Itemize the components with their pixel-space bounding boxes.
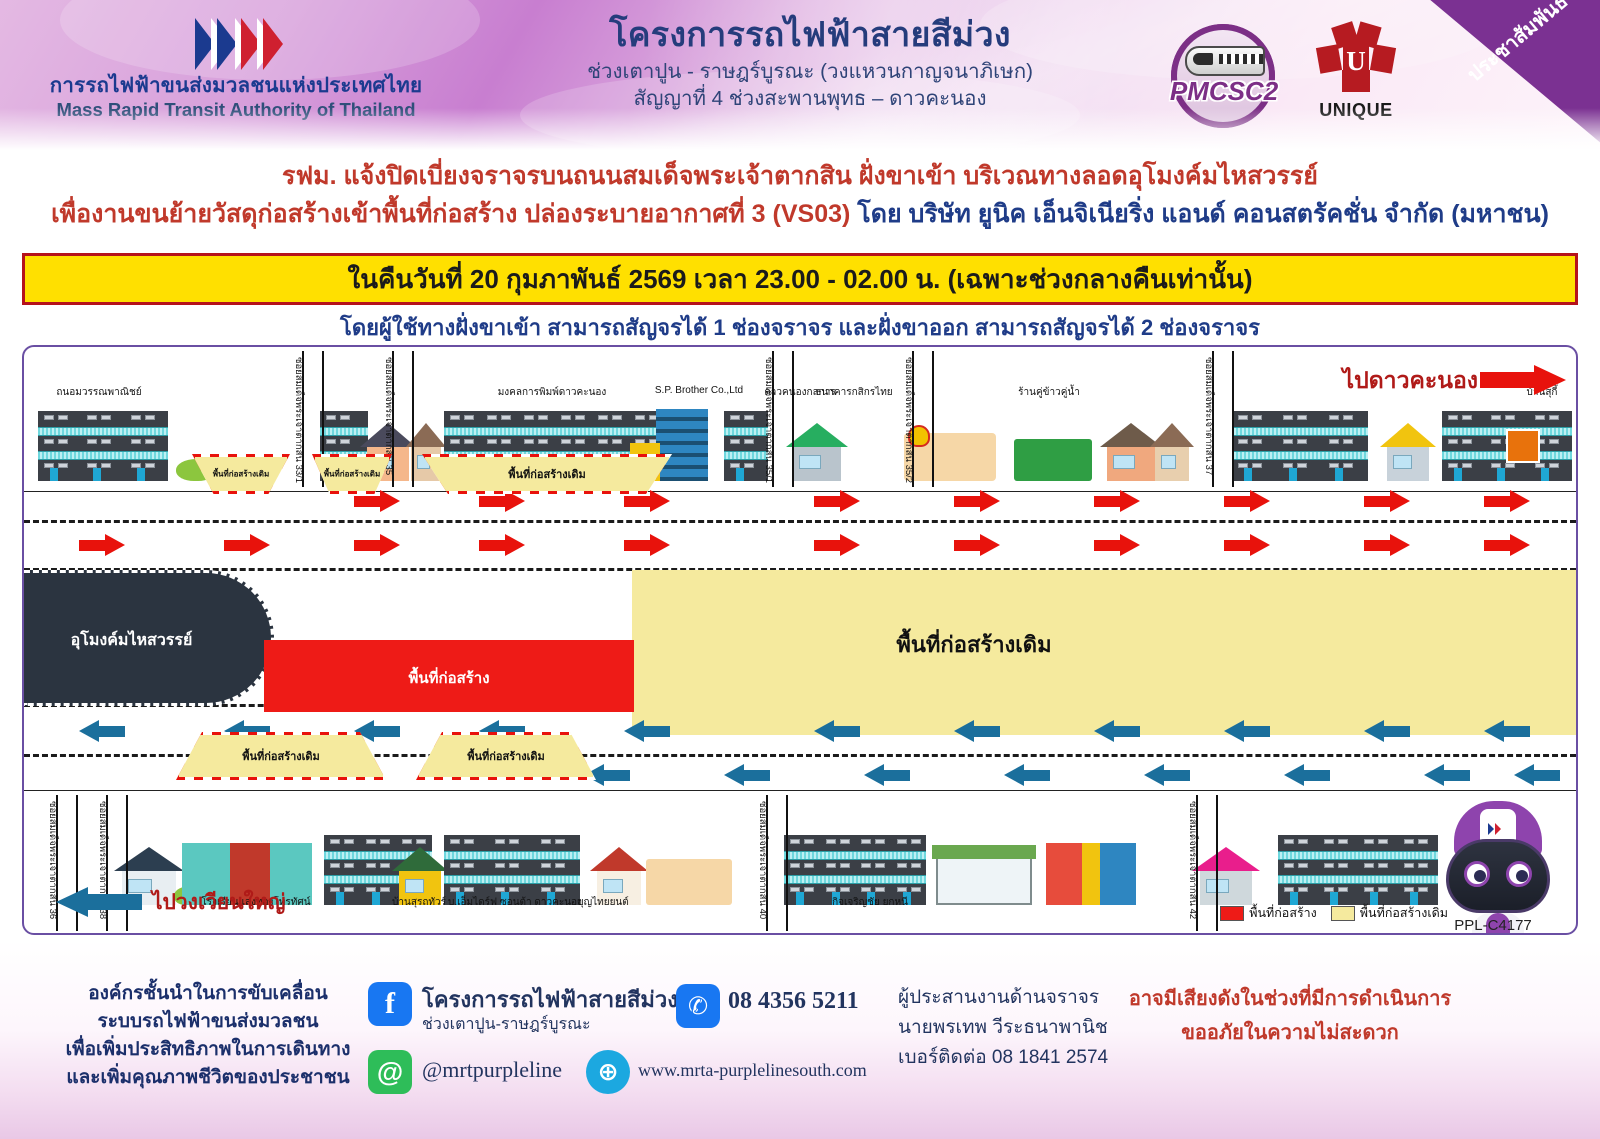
window (145, 439, 155, 444)
window (1161, 455, 1176, 469)
window (799, 455, 820, 469)
window (1404, 839, 1414, 844)
window (1298, 887, 1308, 892)
balcony (444, 875, 580, 884)
window (804, 839, 814, 844)
window (598, 415, 608, 420)
window (1297, 415, 1307, 420)
window (1505, 463, 1515, 468)
building-shophouse (1232, 411, 1368, 481)
window (524, 415, 534, 420)
door (93, 468, 101, 481)
legend-swatch (1220, 906, 1244, 921)
line-icon[interactable]: @ (368, 1050, 412, 1094)
house-wall (793, 447, 840, 481)
window (861, 839, 871, 844)
window (501, 439, 511, 444)
window (1448, 439, 1458, 444)
window (1329, 439, 1339, 444)
window (131, 415, 141, 420)
window (790, 839, 800, 844)
window (1283, 439, 1293, 444)
window (1505, 415, 1515, 420)
baan-suki-sign-icon (1506, 429, 1540, 463)
window (330, 863, 340, 868)
place-label: S.P. Brother Co.,Ltd (634, 385, 764, 396)
lane-divider (24, 520, 1576, 523)
window (101, 439, 111, 444)
window (730, 439, 740, 444)
document-code: PPL-C4177 (1454, 917, 1532, 934)
window (1418, 887, 1428, 892)
active-construction-zone: พื้นที่ก่อสร้าง (264, 640, 634, 712)
door (1454, 468, 1462, 481)
window (897, 863, 907, 868)
window (1462, 439, 1472, 444)
window (1393, 455, 1412, 469)
soi-divider: ซอยสมเด็จพระเจ้าตากสิน 37 (1212, 351, 1234, 487)
window (464, 887, 474, 892)
window (87, 415, 97, 420)
window (1252, 463, 1262, 468)
window (612, 415, 622, 420)
door (1289, 468, 1297, 481)
house-wall (1155, 447, 1188, 481)
slogan-line: องค์กรชั้นนำในการขับเคลื่อน (58, 980, 358, 1008)
window (635, 415, 645, 420)
balcony (1278, 851, 1438, 860)
building-office-tower (656, 409, 708, 481)
inbound-traffic-arrow-icon (354, 534, 400, 556)
window (1113, 455, 1134, 469)
mascot-eye-left (1464, 861, 1490, 887)
direction-label-daokanong: ไปดาวคะนอง (1343, 363, 1478, 399)
mrta-chevron-icon (191, 18, 281, 70)
traffic-diagram: ซอยสมเด็จพระเจ้าตากสิน 33/1ซอยสมเด็จพระเ… (22, 345, 1578, 935)
coordinator-name: นายพรเทพ วีระธนาพานิช (898, 1012, 1108, 1042)
window (1418, 863, 1428, 868)
closure-area-label: พื้นที่ก่อสร้างเดิม (425, 465, 669, 483)
soi-divider: ซอยสมเด็จพระเจ้าตากสิน 42 (1196, 795, 1218, 931)
window (538, 415, 548, 420)
balcony (784, 851, 926, 860)
window (495, 839, 505, 844)
closure-area-label: พื้นที่ก่อสร้างเดิม (419, 747, 593, 765)
window (1535, 415, 1545, 420)
door (1244, 468, 1252, 481)
inbound-traffic-arrow-icon (814, 490, 860, 512)
door (796, 892, 804, 905)
window (1378, 887, 1388, 892)
inbound-traffic-arrow-icon (954, 534, 1000, 556)
window (509, 887, 519, 892)
roof (392, 847, 448, 871)
window (730, 415, 740, 420)
door (736, 468, 744, 481)
soi-divider: ซอยสมเด็จพระเจ้าตากสิน 35/2 (912, 351, 934, 487)
website-url[interactable]: www.mrta-purplelinesouth.com (638, 1060, 867, 1081)
window (875, 863, 885, 868)
inbound-traffic-arrow-icon (814, 534, 860, 556)
window (612, 439, 622, 444)
soi-label: ซอยสมเด็จพระเจ้าตากสิน 35/1 (761, 357, 776, 477)
window (541, 863, 551, 868)
window (1418, 839, 1428, 844)
window (1338, 863, 1348, 868)
place-label: ร้านคู่ข้าวคู่น้ำ (999, 385, 1099, 400)
window (1549, 439, 1559, 444)
globe-icon[interactable]: ⊕ (586, 1050, 630, 1094)
bottom-closure-areas: พื้นที่ก่อสร้างเดิมพื้นที่ก่อสร้างเดิม (24, 732, 1576, 792)
window (101, 415, 111, 420)
window (340, 439, 350, 444)
window (1404, 863, 1414, 868)
window (790, 863, 800, 868)
window (1343, 463, 1353, 468)
page-footer: องค์กรชั้นนำในการขับเคลื่อนระบบรถไฟฟ้าขน… (0, 940, 1600, 1139)
notice-line-2-red: เพื่องานขนย้ายวัสดุก่อสร้างเข้าพื้นที่ก่… (51, 200, 857, 228)
closure-area: พื้นที่ก่อสร้างเดิม (422, 454, 672, 494)
legend-swatch (1331, 906, 1355, 921)
window (875, 839, 885, 844)
restaurant-icon (1014, 439, 1092, 481)
window (861, 863, 871, 868)
window (1343, 439, 1353, 444)
inbound-traffic-arrow-icon (954, 490, 1000, 512)
bottom-building-band: ซอยสมเด็จพระเจ้าตากสิน 36ซอยสมเด็จพระเจ้… (24, 790, 1576, 935)
window (509, 863, 519, 868)
balcony (444, 851, 580, 860)
inbound-traffic-arrow-icon (224, 534, 270, 556)
closure-area-label: พื้นที่ก่อสร้างเดิม (179, 747, 383, 765)
existing-construction-zone-label: พื้นที่ก่อสร้างเดิม (724, 627, 1224, 662)
window (840, 887, 850, 892)
window (464, 415, 474, 420)
contact-phone-number[interactable]: 08 4356 5211 (728, 988, 859, 1015)
place-label: กิจเจริญชัย ยกหนี (810, 895, 930, 910)
soi-label: ซอยสมเด็จพระเจ้าตากสิน 35/2 (901, 357, 916, 477)
window (1238, 439, 1248, 444)
legend-label: พื้นที่ก่อสร้าง (1249, 903, 1317, 923)
coordinator-phone: เบอร์ติดต่อ 08 1841 2574 (898, 1042, 1108, 1072)
window (450, 439, 460, 444)
window (487, 439, 497, 444)
notice-line-2: เพื่องานขนย้ายวัสดุก่อสร้างเข้าพื้นที่ก่… (0, 198, 1600, 232)
window (145, 463, 155, 468)
unique-petal-mark-icon: U (1310, 24, 1402, 96)
slogan-line: เพื่อเพิ่มประสิทธิภาพในการเดินทาง (58, 1036, 358, 1064)
window (1283, 415, 1293, 420)
door (1497, 468, 1505, 481)
soi-label: ซอยสมเด็จพระเจ้าตากสิน 33/1 (291, 357, 306, 477)
inbound-traffic-arrow-icon (1224, 534, 1270, 556)
window (1284, 863, 1294, 868)
notice-line-2-blue: โดย บริษัท ยูนิค เอ็นจิเนียริ่ง แอนด์ คอ… (857, 200, 1549, 228)
window (58, 439, 68, 444)
window (555, 839, 565, 844)
place-label: ธนาคารกสิกรไทย (794, 385, 914, 400)
door (1541, 468, 1549, 481)
window (826, 863, 836, 868)
window (840, 863, 850, 868)
window (344, 839, 354, 844)
window (1324, 839, 1334, 844)
notice-text-block: รฟม. แจ้งปิดเบี่ยงจราจรบนถนนสมเด็จพระเจ้… (0, 160, 1600, 232)
window (1448, 415, 1458, 420)
closure-area-label: พื้นที่ก่อสร้างเดิม (315, 468, 389, 481)
door (137, 468, 145, 481)
nt-building-icon (1046, 843, 1136, 905)
window (1491, 439, 1501, 444)
facebook-icon[interactable]: f (368, 982, 412, 1026)
soi-label: ซอยสมเด็จพระเจ้าตากสิน 37 (1201, 357, 1216, 477)
direction-arrow-right-icon (1480, 365, 1566, 395)
window (326, 415, 336, 420)
roof (1380, 423, 1436, 447)
apology-line-2: ขออภัยในความไม่สะดวก (1110, 1016, 1470, 1048)
balcony (444, 427, 666, 436)
inbound-traffic-arrow-icon (1484, 490, 1530, 512)
bangchak-station-icon (646, 859, 732, 905)
balcony (1278, 875, 1438, 884)
post-office-roof (932, 845, 1036, 859)
window (1549, 415, 1559, 420)
agency-name-en: Mass Rapid Transit Authority of Thailand (36, 99, 436, 121)
window (1252, 415, 1262, 420)
balcony (38, 451, 168, 460)
door (1335, 468, 1343, 481)
window (897, 839, 907, 844)
post-office-icon (936, 855, 1032, 905)
window (911, 839, 921, 844)
facebook-page-sub: ช่วงเตาปูน-ราษฎร์บูรณะ (422, 1012, 591, 1037)
place-label: บ.เอ็มไดร์ฟ ซอนต้า ดาวคะนอง (448, 895, 558, 910)
train-icon (1185, 46, 1265, 76)
unique-logo: U UNIQUE (1310, 24, 1402, 130)
window (744, 439, 754, 444)
inbound-traffic-arrow-icon (1224, 490, 1270, 512)
window (561, 439, 571, 444)
window (598, 439, 608, 444)
agency-name-th: การรถไฟฟ้าขนส่งมวลชนแห่งประเทศไทย (36, 74, 436, 98)
window (538, 439, 548, 444)
balcony (1232, 451, 1368, 460)
direction-label-wongwianyai: ไปวงเวียนใหญ่ (152, 886, 286, 919)
pmcsc2-logo: PMCSC2 (1163, 20, 1285, 128)
mascot-eye-right (1506, 861, 1532, 887)
window (1364, 839, 1374, 844)
window (330, 839, 340, 844)
window (911, 863, 921, 868)
door (50, 468, 58, 481)
window (1378, 839, 1388, 844)
place-label: มงคลการพิมพ์ดาวคะนอง (462, 385, 642, 400)
mascot-figure (1428, 795, 1568, 935)
window (524, 439, 534, 444)
slogan-line: ระบบรถไฟฟ้าขนส่งมวลชน (58, 1008, 358, 1036)
window (826, 839, 836, 844)
project-title-block: โครงการรถไฟฟ้าสายสีม่วง ช่วงเตาปูน - ราษ… (470, 16, 1150, 112)
window (555, 863, 565, 868)
window (603, 879, 623, 893)
phone-icon[interactable]: ✆ (676, 984, 720, 1028)
window (340, 415, 350, 420)
window (501, 415, 511, 420)
datetime-banner-text: ในคืนวันที่ 20 กุมภาพันธ์ 2569 เวลา 23.0… (348, 259, 1253, 300)
apology-line-1: อาจมีเสียงดังในช่วงที่มีการดำเนินการ (1110, 982, 1470, 1014)
window (911, 887, 921, 892)
window (464, 863, 474, 868)
door (336, 892, 344, 905)
window (87, 439, 97, 444)
window (58, 415, 68, 420)
window (326, 439, 336, 444)
organisation-slogan: องค์กรชั้นนำในการขับเคลื่อนระบบรถไฟฟ้าขน… (58, 980, 358, 1092)
window (1238, 415, 1248, 420)
active-construction-zone-label: พื้นที่ก่อสร้าง (264, 666, 634, 690)
window (575, 439, 585, 444)
inbound-traffic-arrow-icon (1364, 534, 1410, 556)
mrta-logo-block: การรถไฟฟ้าขนส่งมวลชนแห่งประเทศไทย Mass R… (36, 18, 436, 121)
window (1462, 415, 1472, 420)
inbound-traffic-arrow-icon (1364, 490, 1410, 512)
window (450, 863, 460, 868)
window (416, 839, 426, 844)
window (464, 839, 474, 844)
datetime-banner: ในคืนวันที่ 20 กุมภาพันธ์ 2569 เวลา 23.0… (22, 253, 1578, 305)
underpass-tunnel: อุโมงค์มไหสวรรย์ (24, 570, 274, 706)
line-account-name[interactable]: @mrtpurpleline (422, 1057, 562, 1083)
closure-area-label: พื้นที่ก่อสร้างเดิม (195, 468, 287, 481)
mascot-head (1446, 839, 1550, 913)
window (131, 439, 141, 444)
window (44, 439, 54, 444)
window (1549, 463, 1559, 468)
window (1298, 863, 1308, 868)
unique-u-letter: U (1345, 44, 1367, 78)
balcony (1232, 427, 1368, 436)
window (405, 879, 424, 893)
lane-availability-text: โดยผู้ใช้ทางฝั่งขาเข้า สามารถสัญจรได้ 1 … (0, 310, 1600, 345)
window (44, 415, 54, 420)
closure-area: พื้นที่ก่อสร้างเดิม (416, 732, 596, 780)
roof (1150, 423, 1194, 447)
window (561, 415, 571, 420)
window (101, 463, 111, 468)
window (1491, 415, 1501, 420)
soi-divider: ซอยสมเด็จพระเจ้าตากสิน 40 (766, 795, 788, 931)
notice-line-1: รฟม. แจ้งปิดเบี่ยงจราจรบนถนนสมเด็จพระเจ้… (0, 160, 1600, 194)
map-legend: พื้นที่ก่อสร้างพื้นที่ก่อสร้างเดิม (1220, 903, 1448, 923)
tunnel-label: อุโมงค์มไหสวรรย์ (24, 628, 239, 653)
roof (786, 423, 848, 447)
window (1329, 415, 1339, 420)
building-house (1150, 423, 1194, 481)
closure-area: พื้นที่ก่อสร้างเดิม (176, 732, 386, 780)
window (1297, 463, 1307, 468)
inbound-traffic-arrow-icon (1094, 490, 1140, 512)
window (58, 463, 68, 468)
slogan-line: และเพิ่มคุณภาพชีวิตของประชาชน (58, 1064, 358, 1092)
window (804, 887, 814, 892)
window (509, 839, 519, 844)
window (575, 415, 585, 420)
window (380, 839, 390, 844)
coordinator-role: ผู้ประสานงานด้านจราจร (898, 982, 1099, 1012)
building-shophouse (1278, 835, 1438, 905)
inbound-traffic-arrow-icon (79, 534, 125, 556)
balcony (784, 875, 926, 884)
page-header: การรถไฟฟ้าขนส่งมวลชนแห่งประเทศไทย Mass R… (0, 0, 1600, 150)
window (487, 415, 497, 420)
window (450, 415, 460, 420)
window (366, 863, 376, 868)
balcony (38, 427, 168, 436)
building-shophouse (38, 411, 168, 481)
window (1297, 439, 1307, 444)
building-house (1380, 423, 1436, 481)
pmcsc2-label: PMCSC2 (1163, 76, 1285, 107)
window (875, 887, 885, 892)
soi-label: ซอยสมเด็จพระเจ้าตากสิน 42 (1185, 801, 1200, 921)
window (450, 839, 460, 844)
inbound-traffic-arrow-icon (1484, 534, 1530, 556)
window (1378, 863, 1388, 868)
window (402, 839, 412, 844)
window (145, 415, 155, 420)
roof (590, 847, 648, 871)
window (744, 415, 754, 420)
place-label: ถนอมวรรณพาณิชย์ (34, 385, 164, 400)
soi-divider: ซอยสมเด็จพระเจ้าตากสิน 35/1 (772, 351, 794, 487)
window (1462, 463, 1472, 468)
window (366, 839, 376, 844)
inbound-traffic-arrow-icon (624, 534, 670, 556)
window (380, 887, 390, 892)
window (1252, 439, 1262, 444)
window (344, 887, 354, 892)
direction-arrow-left-icon (56, 887, 142, 917)
project-subtitle-2: สัญญาที่ 4 ช่วงสะพานพุทธ – ดาวคะนอง (470, 86, 1150, 113)
window (804, 863, 814, 868)
place-label: บุญไทยยนต์ (558, 895, 648, 910)
soi-divider: ซอยสมเด็จพระเจ้าตากสิน 35 (392, 351, 414, 487)
house-wall (1107, 447, 1154, 481)
inbound-traffic-arrow-icon (1094, 534, 1140, 556)
legend-item: พื้นที่ก่อสร้าง (1220, 903, 1317, 923)
window (1284, 839, 1294, 844)
window (555, 887, 565, 892)
unique-label: UNIQUE (1310, 100, 1402, 121)
soi-label: ซอยสมเด็จพระเจ้าตากสิน 40 (755, 801, 770, 921)
window (840, 839, 850, 844)
window (380, 863, 390, 868)
window (1338, 839, 1348, 844)
window (1343, 415, 1353, 420)
window (744, 463, 754, 468)
window (344, 863, 354, 868)
window (1324, 863, 1334, 868)
window (541, 839, 551, 844)
project-title: โครงการรถไฟฟ้าสายสีม่วง (470, 16, 1150, 55)
window (1364, 863, 1374, 868)
window (464, 439, 474, 444)
project-subtitle-1: ช่วงเตาปูน - ราษฎร์บูรณะ (วงแหวนกาญจนาภิ… (470, 59, 1150, 86)
window (495, 863, 505, 868)
house-wall (1387, 447, 1430, 481)
inbound-traffic-arrow-icon (479, 534, 525, 556)
window (1338, 887, 1348, 892)
